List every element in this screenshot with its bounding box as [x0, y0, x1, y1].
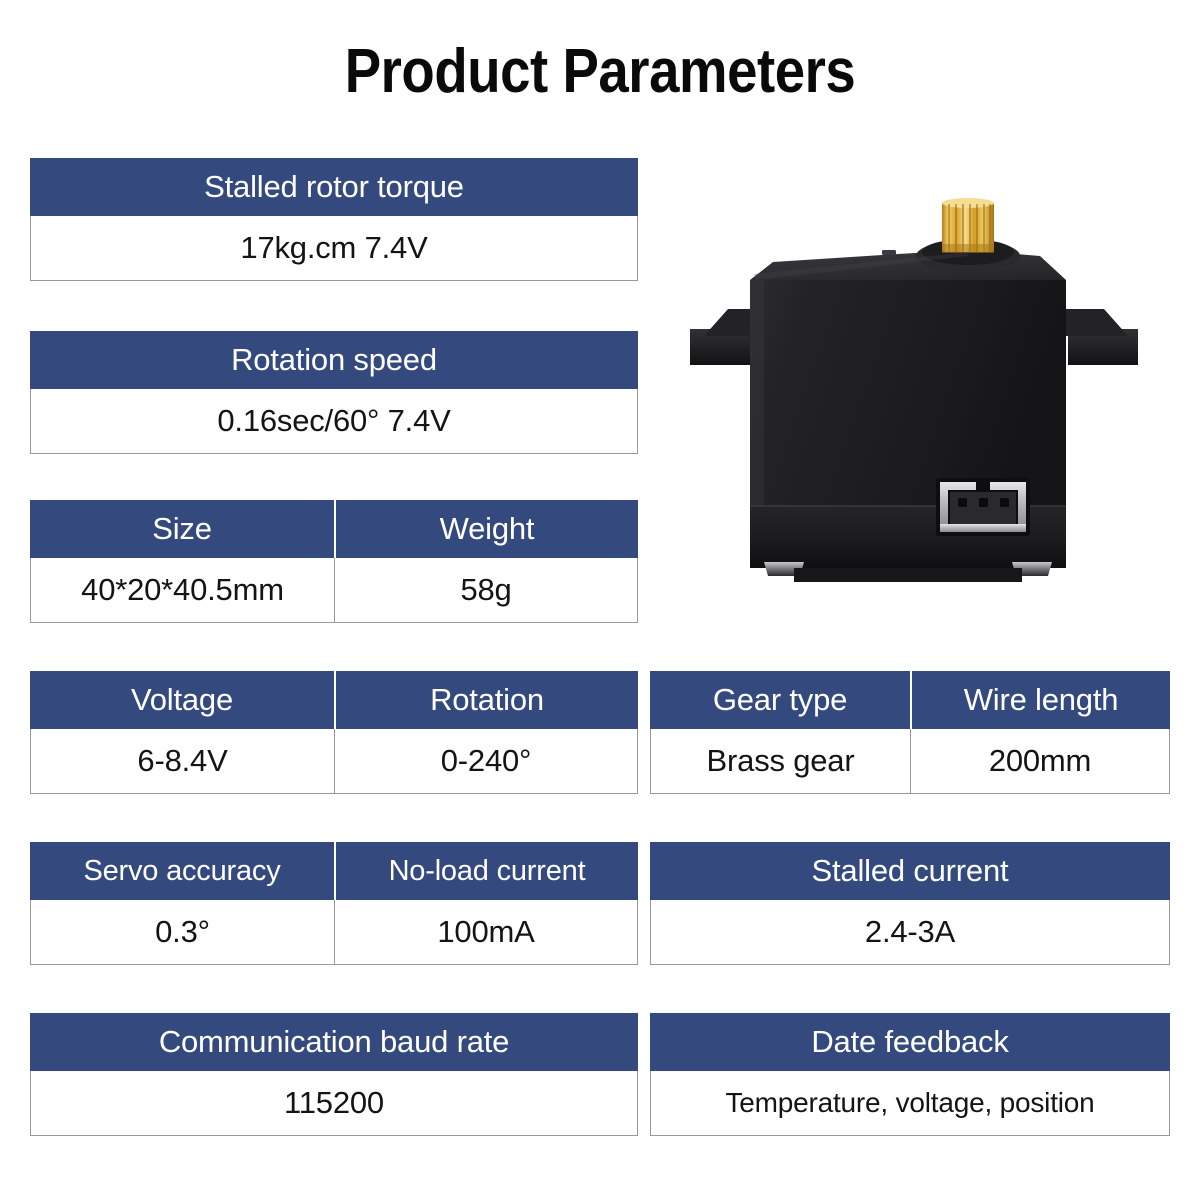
spec-value-cell-size: 40*20*40.5mm: [31, 558, 334, 622]
spec-value-row: 17kg.cm 7.4V: [30, 216, 638, 281]
spec-value-cell-wire-length: 200mm: [910, 729, 1169, 793]
servo-connector-port: [936, 478, 1030, 536]
spec-block-accuracy-noload: Servo accuracy No-load current 0.3° 100m…: [30, 842, 638, 965]
spec-header-row: Stalled rotor torque: [30, 158, 638, 216]
spec-value-row: 6-8.4V 0-240°: [30, 729, 638, 794]
spec-header-row: Communication baud rate: [30, 1013, 638, 1071]
spec-block-size-weight: Size Weight 40*20*40.5mm 58g: [30, 500, 638, 623]
spec-value-cell: 0.16sec/60° 7.4V: [31, 389, 637, 453]
spec-header-cell-voltage: Voltage: [30, 671, 334, 729]
spec-header-row: Rotation speed: [30, 331, 638, 389]
spec-block-rotation-speed: Rotation speed 0.16sec/60° 7.4V: [30, 331, 638, 454]
spec-value-row: Brass gear 200mm: [650, 729, 1170, 794]
servo-body: [750, 250, 1066, 506]
spec-header-cell-servo-accuracy: Servo accuracy: [30, 842, 334, 900]
spec-header-cell: Stalled current: [650, 842, 1170, 900]
spec-value-cell-servo-accuracy: 0.3°: [31, 900, 334, 964]
spec-value-cell-weight: 58g: [334, 558, 637, 622]
spec-header-cell: Communication baud rate: [30, 1013, 638, 1071]
spec-block-date-feedback: Date feedback Temperature, voltage, posi…: [650, 1013, 1170, 1136]
spec-block-voltage-rotation: Voltage Rotation 6-8.4V 0-240°: [30, 671, 638, 794]
spec-value-row: 2.4-3A: [650, 900, 1170, 965]
spec-block-gear-wire: Gear type Wire length Brass gear 200mm: [650, 671, 1170, 794]
spec-header-cell-no-load-current: No-load current: [334, 842, 638, 900]
spec-block-stalled-rotor-torque: Stalled rotor torque 17kg.cm 7.4V: [30, 158, 638, 281]
spec-header-row: Size Weight: [30, 500, 638, 558]
spec-value-row: Temperature, voltage, position: [650, 1071, 1170, 1136]
spec-header-row: Gear type Wire length: [650, 671, 1170, 729]
spec-block-baud-rate: Communication baud rate 115200: [30, 1013, 638, 1136]
spec-header-row: Date feedback: [650, 1013, 1170, 1071]
spec-value-cell: 115200: [31, 1071, 637, 1135]
spec-header-cell: Stalled rotor torque: [30, 158, 638, 216]
spec-value-cell: 17kg.cm 7.4V: [31, 216, 637, 280]
spec-header-cell: Rotation speed: [30, 331, 638, 389]
page-title: Product Parameters: [72, 36, 1128, 107]
spec-header-cell: Date feedback: [650, 1013, 1170, 1071]
spec-value-row: 0.16sec/60° 7.4V: [30, 389, 638, 454]
spec-header-cell-rotation: Rotation: [334, 671, 638, 729]
spec-value-cell-no-load-current: 100mA: [334, 900, 637, 964]
spec-value-cell: 2.4-3A: [651, 900, 1169, 964]
spec-header-cell-size: Size: [30, 500, 334, 558]
spec-value-cell-gear-type: Brass gear: [651, 729, 910, 793]
spec-value-row: 0.3° 100mA: [30, 900, 638, 965]
spec-header-row: Servo accuracy No-load current: [30, 842, 638, 900]
spec-header-cell-weight: Weight: [334, 500, 638, 558]
spec-value-cell-rotation: 0-240°: [334, 729, 637, 793]
spec-value-row: 115200: [30, 1071, 638, 1136]
spec-block-stalled-current: Stalled current 2.4-3A: [650, 842, 1170, 965]
servo-product-image: [668, 176, 1168, 596]
spec-value-row: 40*20*40.5mm 58g: [30, 558, 638, 623]
spec-header-cell-wire-length: Wire length: [910, 671, 1170, 729]
spec-header-row: Voltage Rotation: [30, 671, 638, 729]
spec-header-row: Stalled current: [650, 842, 1170, 900]
spec-value-cell: Temperature, voltage, position: [651, 1071, 1169, 1135]
servo-illustration-svg: [668, 176, 1168, 596]
spec-header-cell-gear-type: Gear type: [650, 671, 910, 729]
spec-value-cell-voltage: 6-8.4V: [31, 729, 334, 793]
brass-output-shaft: [942, 198, 994, 253]
